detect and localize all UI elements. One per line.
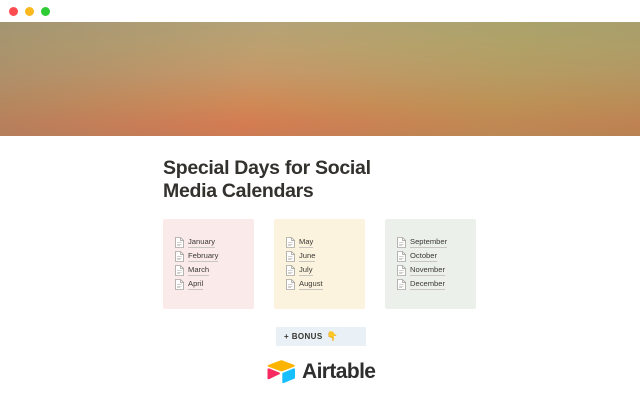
list-item-label: May [299, 237, 313, 248]
q1-q2-column: January February [163, 219, 254, 309]
window-titlebar [0, 0, 640, 22]
document-icon [175, 237, 184, 248]
list-item-label: July [299, 265, 313, 276]
document-icon [175, 265, 184, 276]
list-item-label: August [299, 279, 323, 290]
point-down-icon: 👇 [327, 331, 339, 342]
page-inner: Special Days for Social Media Calendars … [163, 136, 493, 400]
document-icon [175, 279, 184, 290]
app-window: Special Days for Social Media Calendars … [0, 0, 640, 400]
bonus-label: + BONUS [284, 332, 323, 341]
document-icon [286, 237, 295, 248]
month-columns: January February [163, 219, 493, 309]
document-icon [286, 251, 295, 262]
list-item[interactable]: April [175, 278, 254, 292]
hero-cover-banner [0, 22, 640, 136]
list-item[interactable]: October [397, 249, 476, 263]
list-item-label: April [188, 279, 203, 290]
page-content: Special Days for Social Media Calendars … [0, 136, 640, 400]
list-item-label: February [188, 251, 218, 262]
bonus-callout-wrap: + BONUS 👇 [163, 326, 493, 346]
list-item[interactable]: January [175, 235, 254, 249]
page-title: Special Days for Social Media Calendars [163, 136, 425, 203]
minimize-window-button[interactable] [25, 7, 34, 16]
list-item[interactable]: December [397, 278, 476, 292]
list-item[interactable]: February [175, 249, 254, 263]
document-icon [286, 265, 295, 276]
list-item[interactable]: June [286, 249, 365, 263]
year-end-column: September October [385, 219, 476, 309]
list-item[interactable]: May [286, 235, 365, 249]
list-item-label: June [299, 251, 315, 262]
document-icon [397, 237, 406, 248]
document-icon [397, 251, 406, 262]
airtable-logo[interactable]: Airtable [163, 359, 493, 384]
list-item-label: September [410, 237, 447, 248]
bonus-callout: + BONUS 👇 [276, 327, 366, 346]
document-icon [397, 279, 406, 290]
list-item-label: November [410, 265, 445, 276]
list-item-label: December [410, 279, 445, 290]
airtable-logo-icon [266, 359, 296, 384]
list-item[interactable]: September [397, 235, 476, 249]
list-item-label: March [188, 265, 209, 276]
close-window-button[interactable] [9, 7, 18, 16]
list-item-label: January [188, 237, 215, 248]
document-icon [286, 279, 295, 290]
list-item[interactable]: July [286, 263, 365, 277]
mid-year-column: May June [274, 219, 365, 309]
document-icon [175, 251, 184, 262]
list-item[interactable]: August [286, 278, 365, 292]
list-item[interactable]: March [175, 263, 254, 277]
airtable-wordmark: Airtable [302, 360, 375, 384]
list-item[interactable]: November [397, 263, 476, 277]
list-item-label: October [410, 251, 437, 262]
document-icon [397, 265, 406, 276]
maximize-window-button[interactable] [41, 7, 50, 16]
